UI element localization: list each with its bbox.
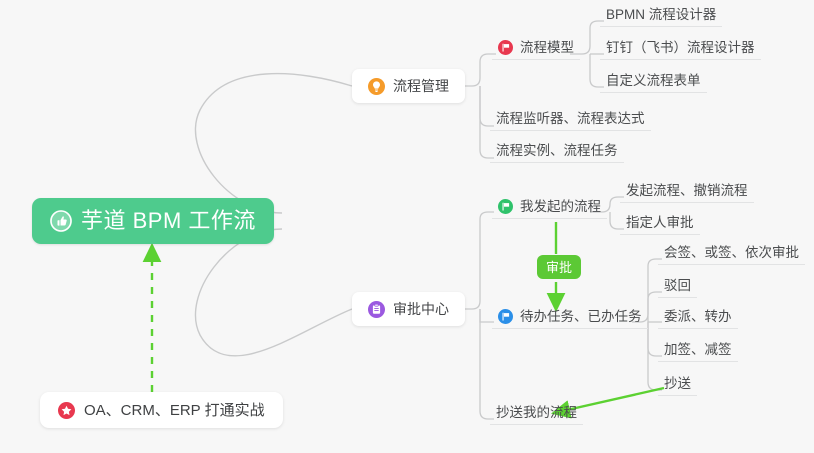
node-custom-form[interactable]: 自定义流程表单 <box>600 74 707 93</box>
link-root-to-approval-center <box>195 229 352 356</box>
node-bpmn-designer[interactable]: BPMN 流程设计器 <box>600 8 722 27</box>
link-pm-to-model <box>462 54 496 86</box>
node-process-instance-label: 流程实例、流程任务 <box>496 144 618 158</box>
star-icon <box>58 402 75 419</box>
root-node[interactable]: 芋道 BPM 工作流 <box>32 198 274 244</box>
node-add-remove-sign-label: 加签、减签 <box>664 343 732 357</box>
node-my-started-process[interactable]: 我发起的流程 <box>492 199 607 219</box>
node-assignee-approval[interactable]: 指定人审批 <box>620 216 700 235</box>
node-dingtalk-designer-label: 钉钉（飞书）流程设计器 <box>606 41 755 55</box>
integration-callout[interactable]: OA、CRM、ERP 打通实战 <box>40 392 283 428</box>
node-countersign-label: 会签、或签、依次审批 <box>664 246 799 260</box>
node-process-management-label: 流程管理 <box>393 79 449 93</box>
node-custom-form-label: 自定义流程表单 <box>606 74 701 88</box>
mindmap-canvas: 芋道 BPM 工作流 流程管理 审批中心 <box>0 0 814 453</box>
node-cc[interactable]: 抄送 <box>658 377 697 396</box>
link-root-to-process-mgmt <box>195 74 352 213</box>
node-reject[interactable]: 驳回 <box>658 279 697 298</box>
node-delegate-transfer[interactable]: 委派、转办 <box>658 310 738 329</box>
node-cc-label: 抄送 <box>664 377 691 391</box>
lightbulb-icon <box>368 78 385 95</box>
approval-badge-label: 审批 <box>546 261 572 274</box>
clipboard-icon <box>368 301 385 318</box>
thumbs-up-icon <box>50 210 72 232</box>
flag-icon <box>498 309 513 324</box>
node-add-remove-sign[interactable]: 加签、减签 <box>658 343 738 362</box>
node-todo-done-tasks-label: 待办任务、已办任务 <box>520 310 642 324</box>
node-delegate-transfer-label: 委派、转办 <box>664 310 732 324</box>
integration-callout-label: OA、CRM、ERP 打通实战 <box>84 403 265 418</box>
node-reject-label: 驳回 <box>664 279 691 293</box>
node-start-cancel-process[interactable]: 发起流程、撤销流程 <box>620 184 754 203</box>
flag-icon <box>498 199 513 214</box>
flag-icon <box>498 40 513 55</box>
approval-badge[interactable]: 审批 <box>537 255 581 279</box>
node-process-model-label: 流程模型 <box>520 41 574 55</box>
node-my-started-process-label: 我发起的流程 <box>520 200 601 214</box>
node-process-model[interactable]: 流程模型 <box>492 40 580 60</box>
node-cc-to-me[interactable]: 抄送我的流程 <box>490 406 583 425</box>
node-process-instance[interactable]: 流程实例、流程任务 <box>490 144 624 163</box>
node-process-management[interactable]: 流程管理 <box>352 69 465 103</box>
node-approval-center[interactable]: 审批中心 <box>352 292 465 326</box>
root-label: 芋道 BPM 工作流 <box>81 210 256 232</box>
node-dingtalk-designer[interactable]: 钉钉（飞书）流程设计器 <box>600 41 761 60</box>
node-process-listener-label: 流程监听器、流程表达式 <box>496 112 645 126</box>
node-process-listener[interactable]: 流程监听器、流程表达式 <box>490 112 651 131</box>
node-bpmn-designer-label: BPMN 流程设计器 <box>606 8 716 22</box>
node-todo-done-tasks[interactable]: 待办任务、已办任务 <box>492 309 648 329</box>
node-approval-center-label: 审批中心 <box>393 302 449 316</box>
node-start-cancel-process-label: 发起流程、撤销流程 <box>626 184 748 198</box>
node-cc-to-me-label: 抄送我的流程 <box>496 406 577 420</box>
node-countersign[interactable]: 会签、或签、依次审批 <box>658 246 805 265</box>
link-ac-to-mine <box>462 212 494 309</box>
node-assignee-approval-label: 指定人审批 <box>626 216 694 230</box>
